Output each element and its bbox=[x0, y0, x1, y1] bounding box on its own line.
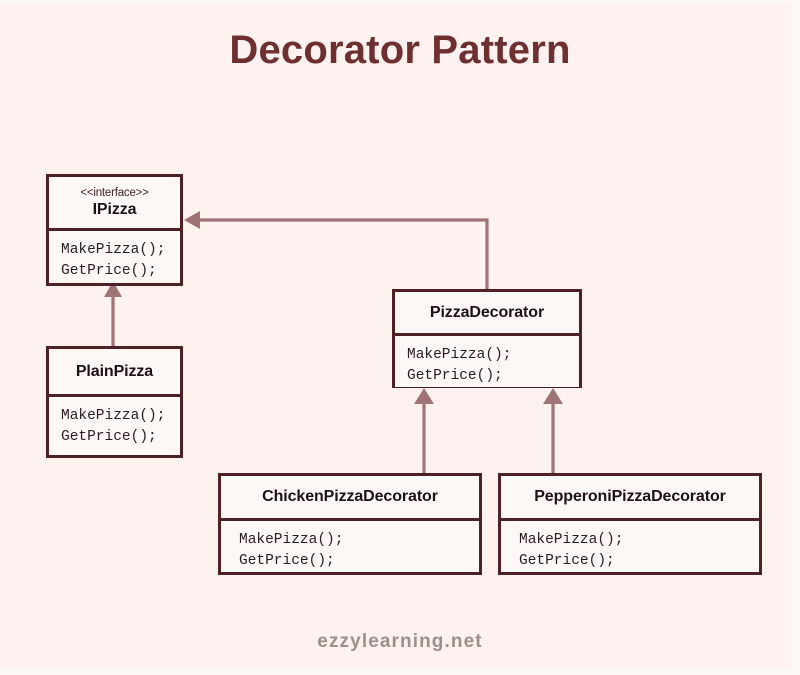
operation-item: MakePizza(); bbox=[239, 530, 479, 551]
class-operations-chickenpizzadecorator: MakePizza(); GetPrice(); bbox=[221, 521, 479, 572]
canvas-top-edge bbox=[0, 0, 800, 4]
operation-item: GetPrice(); bbox=[519, 551, 759, 572]
class-header-pizzadecorator: PizzaDecorator bbox=[395, 292, 579, 336]
class-box-ipizza[interactable]: <<interface>> IPizza MakePizza(); GetPri… bbox=[46, 174, 183, 286]
operation-item: MakePizza(); bbox=[61, 240, 180, 261]
class-name-ipizza: IPizza bbox=[93, 200, 137, 220]
canvas-bottom-edge bbox=[0, 670, 800, 675]
class-stereotype-ipizza: <<interface>> bbox=[80, 186, 148, 200]
site-watermark: ezzylearning.net bbox=[0, 631, 800, 653]
operation-item: MakePizza(); bbox=[519, 530, 759, 551]
class-box-pepperonipizzadecorator[interactable]: PepperoniPizzaDecorator MakePizza(); Get… bbox=[498, 473, 762, 575]
class-name-pepperonipizzadecorator: PepperoniPizzaDecorator bbox=[534, 487, 726, 507]
operation-item: GetPrice(); bbox=[407, 366, 579, 387]
class-operations-plainpizza: MakePizza(); GetPrice(); bbox=[49, 397, 180, 448]
class-header-plainpizza: PlainPizza bbox=[49, 349, 180, 397]
class-operations-pizzadecorator: MakePizza(); GetPrice(); bbox=[395, 336, 579, 387]
operation-item: MakePizza(); bbox=[407, 345, 579, 366]
page-title: Decorator Pattern bbox=[0, 28, 800, 73]
operation-item: GetPrice(); bbox=[61, 261, 180, 282]
operation-item: GetPrice(); bbox=[239, 551, 479, 572]
class-name-pizzadecorator: PizzaDecorator bbox=[430, 303, 544, 323]
canvas-right-edge bbox=[791, 0, 800, 675]
connector-chicken-to-pizzadecorator bbox=[414, 388, 434, 473]
class-name-chickenpizzadecorator: ChickenPizzaDecorator bbox=[262, 487, 438, 507]
operation-item: GetPrice(); bbox=[61, 427, 180, 448]
connector-pizzadecorator-to-ipizza bbox=[184, 211, 487, 289]
class-box-chickenpizzadecorator[interactable]: ChickenPizzaDecorator MakePizza(); GetPr… bbox=[218, 473, 482, 575]
connector-pepperoni-to-pizzadecorator bbox=[543, 388, 563, 473]
class-operations-pepperonipizzadecorator: MakePizza(); GetPrice(); bbox=[501, 521, 759, 572]
class-operations-ipizza: MakePizza(); GetPrice(); bbox=[49, 231, 180, 282]
class-box-pizzadecorator[interactable]: PizzaDecorator MakePizza(); GetPrice(); bbox=[392, 289, 582, 388]
class-header-chickenpizzadecorator: ChickenPizzaDecorator bbox=[221, 476, 479, 521]
connector-plainpizza-to-ipizza bbox=[104, 281, 122, 346]
class-name-plainpizza: PlainPizza bbox=[76, 362, 153, 382]
class-box-plainpizza[interactable]: PlainPizza MakePizza(); GetPrice(); bbox=[46, 346, 183, 458]
diagram-canvas: Decorator Pattern <<interface>> IPizza M… bbox=[0, 0, 800, 675]
class-header-ipizza: <<interface>> IPizza bbox=[49, 177, 180, 231]
class-header-pepperonipizzadecorator: PepperoniPizzaDecorator bbox=[501, 476, 759, 521]
operation-item: MakePizza(); bbox=[61, 406, 180, 427]
